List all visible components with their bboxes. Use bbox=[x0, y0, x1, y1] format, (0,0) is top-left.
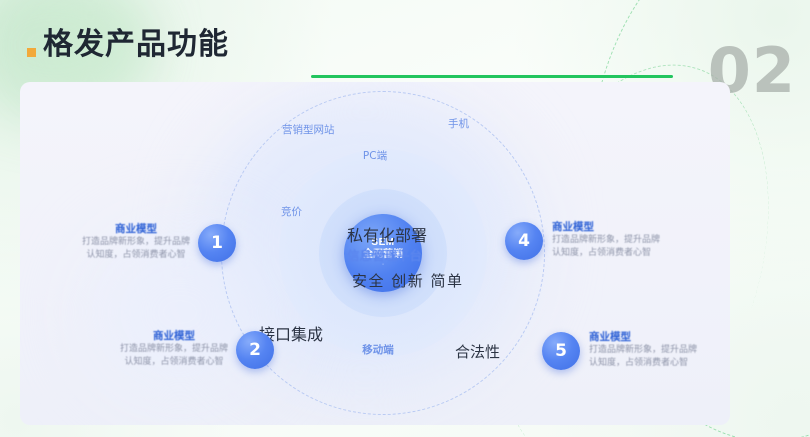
feature-item-4-heading: 商业模型 bbox=[552, 221, 594, 234]
feature-item-5[interactable]: 5 商业模型 打造品牌新形象，提升品牌认知度，占领消费者心智 bbox=[542, 331, 697, 370]
feature-info-platform: 信息管理平台 bbox=[347, 245, 422, 264]
feature-private-deployment: 私有化部署 bbox=[347, 222, 427, 246]
bullet-square-icon bbox=[27, 48, 36, 57]
feature-item-1-number[interactable]: 1 bbox=[198, 224, 236, 262]
feature-item-1-text: 商业模型 打造品牌新形象，提升品牌认知度，占领消费者心智 bbox=[82, 223, 190, 262]
page-title-text: 格发产品功能 bbox=[43, 22, 229, 68]
feature-item-1-desc: 打造品牌新形象，提升品牌认知度，占领消费者心智 bbox=[82, 236, 190, 262]
feature-item-4-text: 商业模型 打造品牌新形象，提升品牌认知度，占领消费者心智 bbox=[552, 221, 660, 260]
title-divider-rule bbox=[311, 75, 673, 78]
feature-item-2-desc: 打造品牌新形象，提升品牌认知度，占领消费者心智 bbox=[120, 343, 228, 369]
ring-label-site: 营销型网站 bbox=[282, 122, 335, 137]
feature-item-1-heading: 商业模型 bbox=[115, 223, 157, 236]
feature-item-5-heading: 商业模型 bbox=[589, 331, 631, 344]
feature-item-1[interactable]: 商业模型 打造品牌新形象，提升品牌认知度，占领消费者心智 1 bbox=[82, 223, 236, 262]
slide-canvas: 格发产品功能 02 SEM 全网营销 · PC端 移动端 营销型网站 竞价 手机… bbox=[0, 0, 810, 437]
ring-label-bid: 竞价 bbox=[281, 204, 302, 219]
slide-header: 格发产品功能 02 bbox=[0, 22, 810, 78]
ring-label-phone: 手机 bbox=[448, 116, 469, 131]
feature-item-2-heading: 商业模型 bbox=[153, 330, 195, 343]
feature-item-5-number[interactable]: 5 bbox=[542, 332, 580, 370]
feature-item-4[interactable]: 4 商业模型 打造品牌新形象，提升品牌认知度，占领消费者心智 bbox=[505, 221, 660, 260]
feature-item-5-text: 商业模型 打造品牌新形象，提升品牌认知度，占领消费者心智 bbox=[589, 331, 697, 370]
feature-item-2-text: 商业模型 打造品牌新形象，提升品牌认知度，占领消费者心智 bbox=[120, 330, 228, 369]
page-title: 格发产品功能 bbox=[27, 22, 229, 68]
feature-item-4-desc: 打造品牌新形象，提升品牌认知度，占领消费者心智 bbox=[552, 234, 660, 260]
feature-item-2[interactable]: 商业模型 打造品牌新形象，提升品牌认知度，占领消费者心智 2 bbox=[120, 330, 274, 369]
feature-item-5-desc: 打造品牌新形象，提升品牌认知度，占领消费者心智 bbox=[589, 344, 697, 370]
feature-item-4-number[interactable]: 4 bbox=[505, 222, 543, 260]
feature-tagline: 安全 创新 简单 bbox=[352, 270, 464, 291]
ring-label-pc: PC端 bbox=[363, 148, 387, 163]
content-panel: SEM 全网营销 · PC端 移动端 营销型网站 竞价 手机 私有化部署 信息管… bbox=[20, 82, 730, 425]
feature-legality: 合法性 bbox=[455, 341, 500, 362]
feature-item-2-number[interactable]: 2 bbox=[236, 331, 274, 369]
ring-label-mobile: 移动端 bbox=[362, 342, 394, 357]
